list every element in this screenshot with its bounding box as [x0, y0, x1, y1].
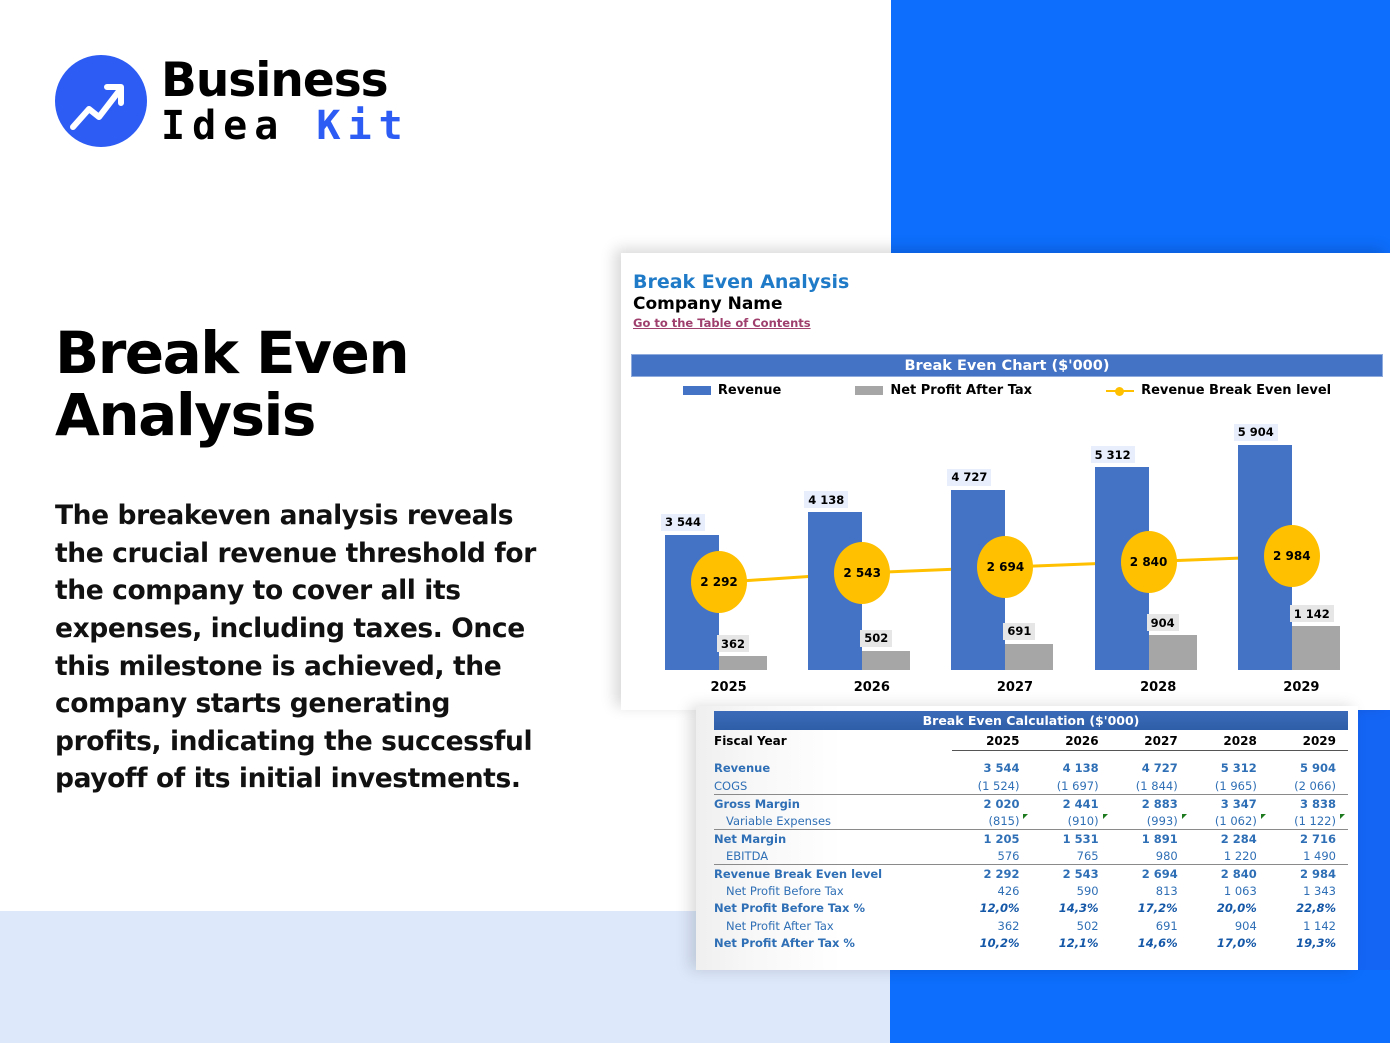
table-header-year: 2025	[952, 734, 1031, 751]
table-cell-value: (1 844)	[1111, 777, 1190, 795]
table-cell-value: (1 524)	[952, 777, 1031, 795]
table-cell-value: 691	[1111, 917, 1190, 935]
table-cell-value: 980	[1111, 847, 1190, 865]
legend-label-break-even-level: Revenue Break Even level	[1141, 383, 1331, 398]
table-cell-value: 10,2%	[952, 935, 1031, 953]
table-cell-value: 590	[1031, 882, 1110, 900]
table-cell-value: 2 543	[1031, 865, 1110, 883]
table-cell-value: 1 531	[1031, 830, 1110, 848]
table-cell-value: 502	[1031, 917, 1110, 935]
table-row: EBITDA5767659801 2201 490	[714, 847, 1348, 865]
bar-net-profit-after-tax	[1292, 626, 1340, 670]
table-header-row: Fiscal Year 2025 2026 2027 2028 2029	[714, 734, 1348, 751]
table-row-label: Variable Expenses	[714, 812, 952, 830]
table-title: Break Even Calculation ($'000)	[714, 711, 1348, 730]
sheet-company-name: Company Name	[633, 294, 783, 314]
table-row-label: Net Margin	[714, 830, 952, 848]
table-row: COGS(1 524)(1 697)(1 844)(1 965)(2 066)	[714, 777, 1348, 795]
chart-title: Break Even Chart ($'000)	[631, 354, 1383, 377]
table-cell-value: 4 138	[1031, 760, 1110, 778]
data-label-revenue: 5 904	[1234, 424, 1278, 441]
table-row-label: Gross Margin	[714, 795, 952, 813]
table-cell-value: 765	[1031, 847, 1110, 865]
table-cell-value: 17,2%	[1111, 900, 1190, 918]
table-cell-value: 426	[952, 882, 1031, 900]
table-cell-value: 19,3%	[1269, 935, 1348, 953]
table-row: Revenue Break Even level2 2922 5432 6942…	[714, 865, 1348, 883]
data-label-revenue: 5 312	[1091, 446, 1135, 463]
table-cell-value: 813	[1111, 882, 1190, 900]
table-cell-value: (2 066)	[1269, 777, 1348, 795]
brand-logo: Business Idea Kit	[55, 55, 410, 147]
break-even-marker: 2 292	[691, 551, 747, 613]
axis-label-year: 2028	[1087, 680, 1230, 695]
table-cell-value: 3 838	[1269, 795, 1348, 813]
table-row-label: COGS	[714, 777, 952, 795]
page-title: Break Even Analysis	[55, 322, 408, 446]
table-cell-value: 14,3%	[1031, 900, 1110, 918]
sheet-title: Break Even Analysis	[633, 271, 849, 293]
table-cell-value: (1 965)	[1190, 777, 1269, 795]
break-even-marker: 2 984	[1264, 525, 1320, 587]
table-row-label: Revenue Break Even level	[714, 865, 952, 883]
table-cell-value: 2 840	[1190, 865, 1269, 883]
table-cell-value: (993)	[1111, 812, 1190, 830]
calculation-table-card: Break Even Calculation ($'000) Fiscal Ye…	[696, 706, 1358, 970]
table-cell-value: (1 062)	[1190, 812, 1269, 830]
data-label-revenue: 4 138	[804, 491, 848, 508]
axis-label-year: 2026	[800, 680, 943, 695]
table-row: Net Profit After Tax3625026919041 142	[714, 917, 1348, 935]
logo-wordmark-secondary: Idea Kit	[161, 106, 410, 146]
data-label-revenue: 4 727	[947, 469, 991, 486]
axis-label-year: 2025	[657, 680, 800, 695]
data-label-net-profit-after-tax: 691	[1003, 623, 1035, 640]
axis-label-year: 2027	[943, 680, 1086, 695]
legend-item-revenue: Revenue	[683, 383, 781, 398]
table-header-year: 2029	[1269, 734, 1348, 751]
chart-plot-area: 3 54436220254 13850220264 72769120275 31…	[657, 418, 1373, 670]
table-cell-value: 1 205	[952, 830, 1031, 848]
table-row-label: EBITDA	[714, 847, 952, 865]
table-cell-value: 14,6%	[1111, 935, 1190, 953]
table-header-year: 2028	[1190, 734, 1269, 751]
table-cell-value: 2 694	[1111, 865, 1190, 883]
table-cell-value: 1 343	[1269, 882, 1348, 900]
table-row: Revenue3 5444 1384 7275 3125 904	[714, 760, 1348, 778]
table-of-contents-link[interactable]: Go to the Table of Contents	[633, 316, 811, 330]
axis-label-year: 2029	[1230, 680, 1373, 695]
table-cell-value: 3 544	[952, 760, 1031, 778]
bar-net-profit-after-tax	[719, 656, 767, 670]
table-header-fiscal-year: Fiscal Year	[714, 734, 952, 751]
table-cell-value: 17,0%	[1190, 935, 1269, 953]
table-header-year: 2026	[1031, 734, 1110, 751]
break-even-marker: 2 694	[977, 536, 1033, 598]
table-row: Variable Expenses(815)(910)(993)(1 062)(…	[714, 812, 1348, 830]
legend-item-break-even-level: Revenue Break Even level	[1106, 383, 1331, 398]
table-header-year: 2027	[1111, 734, 1190, 751]
bar-net-profit-after-tax	[862, 651, 910, 670]
table-cell-value: 1 063	[1190, 882, 1269, 900]
table-row: Net Profit After Tax %10,2%12,1%14,6%17,…	[714, 935, 1348, 953]
logo-kit-text: Kit	[316, 103, 409, 149]
logo-idea-text: Idea	[161, 103, 316, 149]
table-row-label: Net Profit After Tax	[714, 917, 952, 935]
growth-arrow-icon	[55, 55, 147, 147]
chart-group: 3 5443622025	[657, 418, 800, 670]
table-cell-value: 12,0%	[952, 900, 1031, 918]
table-cell-value: 362	[952, 917, 1031, 935]
table-cell-value: (910)	[1031, 812, 1110, 830]
table-spacer-row	[714, 751, 1348, 760]
bar-net-profit-after-tax	[1149, 635, 1197, 670]
table-row-label: Net Profit Before Tax	[714, 882, 952, 900]
table-row: Net Margin1 2051 5311 8912 2842 716	[714, 830, 1348, 848]
table-row: Net Profit Before Tax4265908131 0631 343	[714, 882, 1348, 900]
table-cell-value: 2 441	[1031, 795, 1110, 813]
table-cell-value: 576	[952, 847, 1031, 865]
table-row: Net Profit Before Tax %12,0%14,3%17,2%20…	[714, 900, 1348, 918]
table-cell-value: 1 220	[1190, 847, 1269, 865]
data-label-revenue: 3 544	[661, 514, 705, 531]
table-cell-value: 22,8%	[1269, 900, 1348, 918]
table-cell-value: (815)	[952, 812, 1031, 830]
background-panel-top-right	[891, 0, 1390, 256]
table-row-label: Net Profit Before Tax %	[714, 900, 952, 918]
break-even-calculation-table: Fiscal Year 2025 2026 2027 2028 2029 Rev…	[714, 734, 1348, 952]
table-cell-value: 1 142	[1269, 917, 1348, 935]
table-cell-value: 4 727	[1111, 760, 1190, 778]
data-label-net-profit-after-tax: 1 142	[1290, 605, 1334, 622]
data-label-net-profit-after-tax: 362	[717, 635, 749, 652]
table-cell-value: 3 347	[1190, 795, 1269, 813]
data-label-net-profit-after-tax: 904	[1147, 614, 1179, 631]
legend-swatch-npat-icon	[855, 386, 883, 395]
data-label-net-profit-after-tax: 502	[860, 630, 892, 647]
table-cell-value: 2 984	[1269, 865, 1348, 883]
table-cell-value: 5 904	[1269, 760, 1348, 778]
legend-swatch-revenue-icon	[683, 386, 711, 395]
break-even-marker: 2 543	[834, 542, 890, 604]
page-description: The breakeven analysis reveals the cruci…	[55, 497, 547, 798]
table-cell-value: 1 490	[1269, 847, 1348, 865]
table-cell-value: 20,0%	[1190, 900, 1269, 918]
bar-net-profit-after-tax	[1005, 644, 1053, 670]
table-cell-value: (1 122)	[1269, 812, 1348, 830]
table-row-label: Revenue	[714, 760, 952, 778]
table-cell-value: 2 883	[1111, 795, 1190, 813]
legend-swatch-break-even-line-icon	[1106, 386, 1134, 395]
break-even-marker: 2 840	[1121, 531, 1177, 593]
background-panel-bottom-right	[890, 970, 1390, 1043]
table-cell-value: 12,1%	[1031, 935, 1110, 953]
legend-label-revenue: Revenue	[718, 383, 781, 398]
table-cell-value: (1 697)	[1031, 777, 1110, 795]
legend-item-net-profit-after-tax: Net Profit After Tax	[855, 383, 1032, 398]
table-cell-value: 2 020	[952, 795, 1031, 813]
table-row: Gross Margin2 0202 4412 8833 3473 838	[714, 795, 1348, 813]
table-cell-value: 2 292	[952, 865, 1031, 883]
table-cell-value: 2 284	[1190, 830, 1269, 848]
logo-wordmark-primary: Business	[161, 57, 410, 104]
table-row-label: Net Profit After Tax %	[714, 935, 952, 953]
chart-legend: Revenue Net Profit After Tax Revenue Bre…	[631, 383, 1383, 398]
table-cell-value: 1 891	[1111, 830, 1190, 848]
table-cell-value: 2 716	[1269, 830, 1348, 848]
chart-card: Break Even Analysis Company Name Go to t…	[621, 253, 1390, 710]
legend-label-net-profit-after-tax: Net Profit After Tax	[890, 383, 1032, 398]
table-cell-value: 904	[1190, 917, 1269, 935]
table-cell-value: 5 312	[1190, 760, 1269, 778]
